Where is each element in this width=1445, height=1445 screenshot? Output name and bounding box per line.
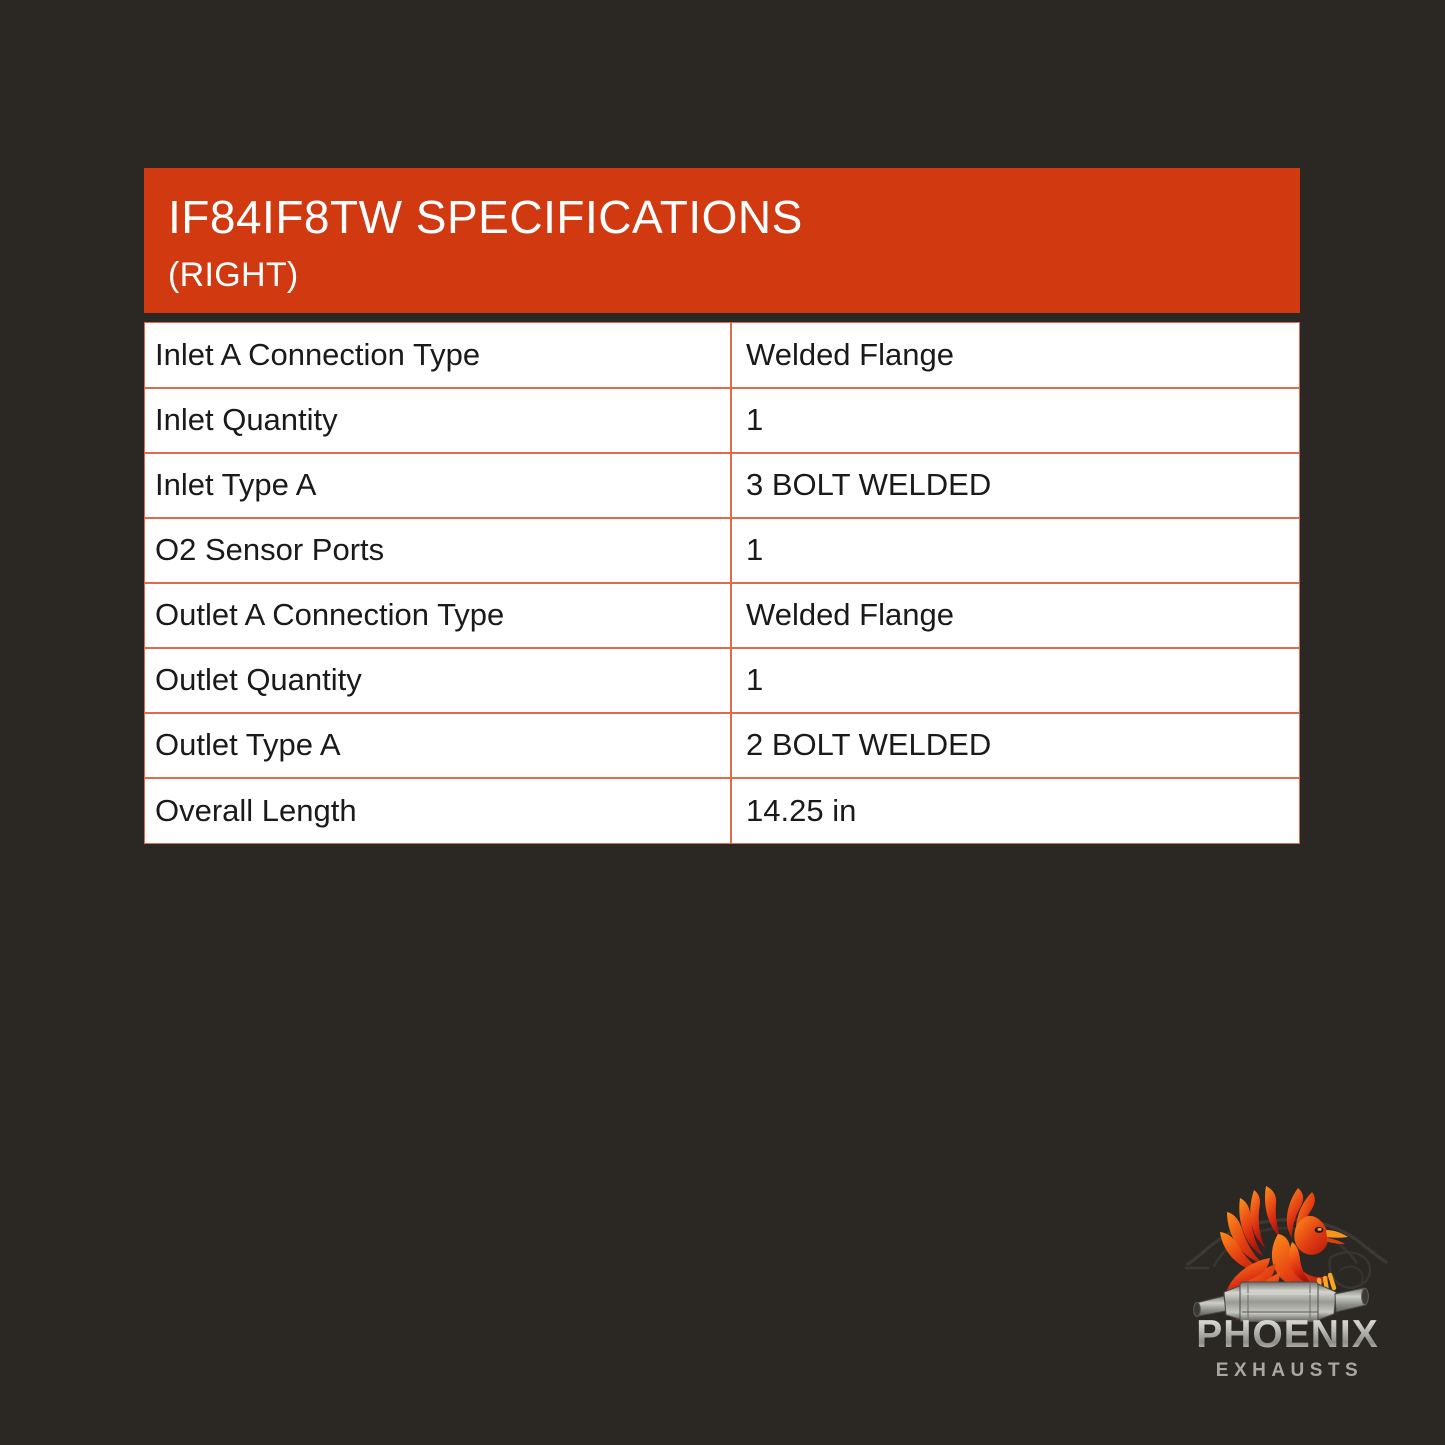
spec-table-container: Inlet A Connection Type Welded Flange In… — [144, 322, 1300, 844]
brand-name: PHOENIX — [1180, 1315, 1395, 1354]
spec-label: Inlet A Connection Type — [145, 323, 731, 388]
spec-table-body: Inlet A Connection Type Welded Flange In… — [145, 323, 1299, 843]
table-row: Outlet Type A 2 BOLT WELDED — [145, 713, 1299, 778]
spec-header: IF84IF8TW SPECIFICATIONS (RIGHT) — [144, 168, 1300, 313]
spec-label: Overall Length — [145, 778, 731, 843]
table-row: Inlet Type A 3 BOLT WELDED — [145, 453, 1299, 518]
brand-logo: PHOENIX EXHAUSTS — [1180, 1172, 1395, 1392]
specifications-card: IF84IF8TW SPECIFICATIONS (RIGHT) Inlet A… — [144, 168, 1300, 844]
spec-value: 1 — [731, 648, 1299, 713]
spec-label: Outlet Type A — [145, 713, 731, 778]
spec-label: Inlet Quantity — [145, 388, 731, 453]
logo-artwork — [1180, 1172, 1395, 1322]
table-row: Outlet Quantity 1 — [145, 648, 1299, 713]
logo-wordmark: PHOENIX EXHAUSTS — [1180, 1315, 1395, 1380]
page-subtitle: (RIGHT) — [168, 258, 1276, 292]
spec-label: Inlet Type A — [145, 453, 731, 518]
specifications-table: Inlet A Connection Type Welded Flange In… — [145, 323, 1299, 843]
table-row: Inlet A Connection Type Welded Flange — [145, 323, 1299, 388]
spec-value: Welded Flange — [731, 323, 1299, 388]
spec-value: 2 BOLT WELDED — [731, 713, 1299, 778]
spec-label: Outlet A Connection Type — [145, 583, 731, 648]
table-row: Outlet A Connection Type Welded Flange — [145, 583, 1299, 648]
spec-value: 14.25 in — [731, 778, 1299, 843]
brand-tagline: EXHAUSTS — [1180, 1361, 1395, 1380]
spec-value: Welded Flange — [731, 583, 1299, 648]
page-title: IF84IF8TW SPECIFICATIONS — [168, 194, 1276, 240]
spec-value: 3 BOLT WELDED — [731, 453, 1299, 518]
spec-label: Outlet Quantity — [145, 648, 731, 713]
table-row: Overall Length 14.25 in — [145, 778, 1299, 843]
spec-value: 1 — [731, 388, 1299, 453]
logo-mark — [1180, 1172, 1395, 1322]
spec-label: O2 Sensor Ports — [145, 518, 731, 583]
table-row: Inlet Quantity 1 — [145, 388, 1299, 453]
spec-value: 1 — [731, 518, 1299, 583]
table-row: O2 Sensor Ports 1 — [145, 518, 1299, 583]
